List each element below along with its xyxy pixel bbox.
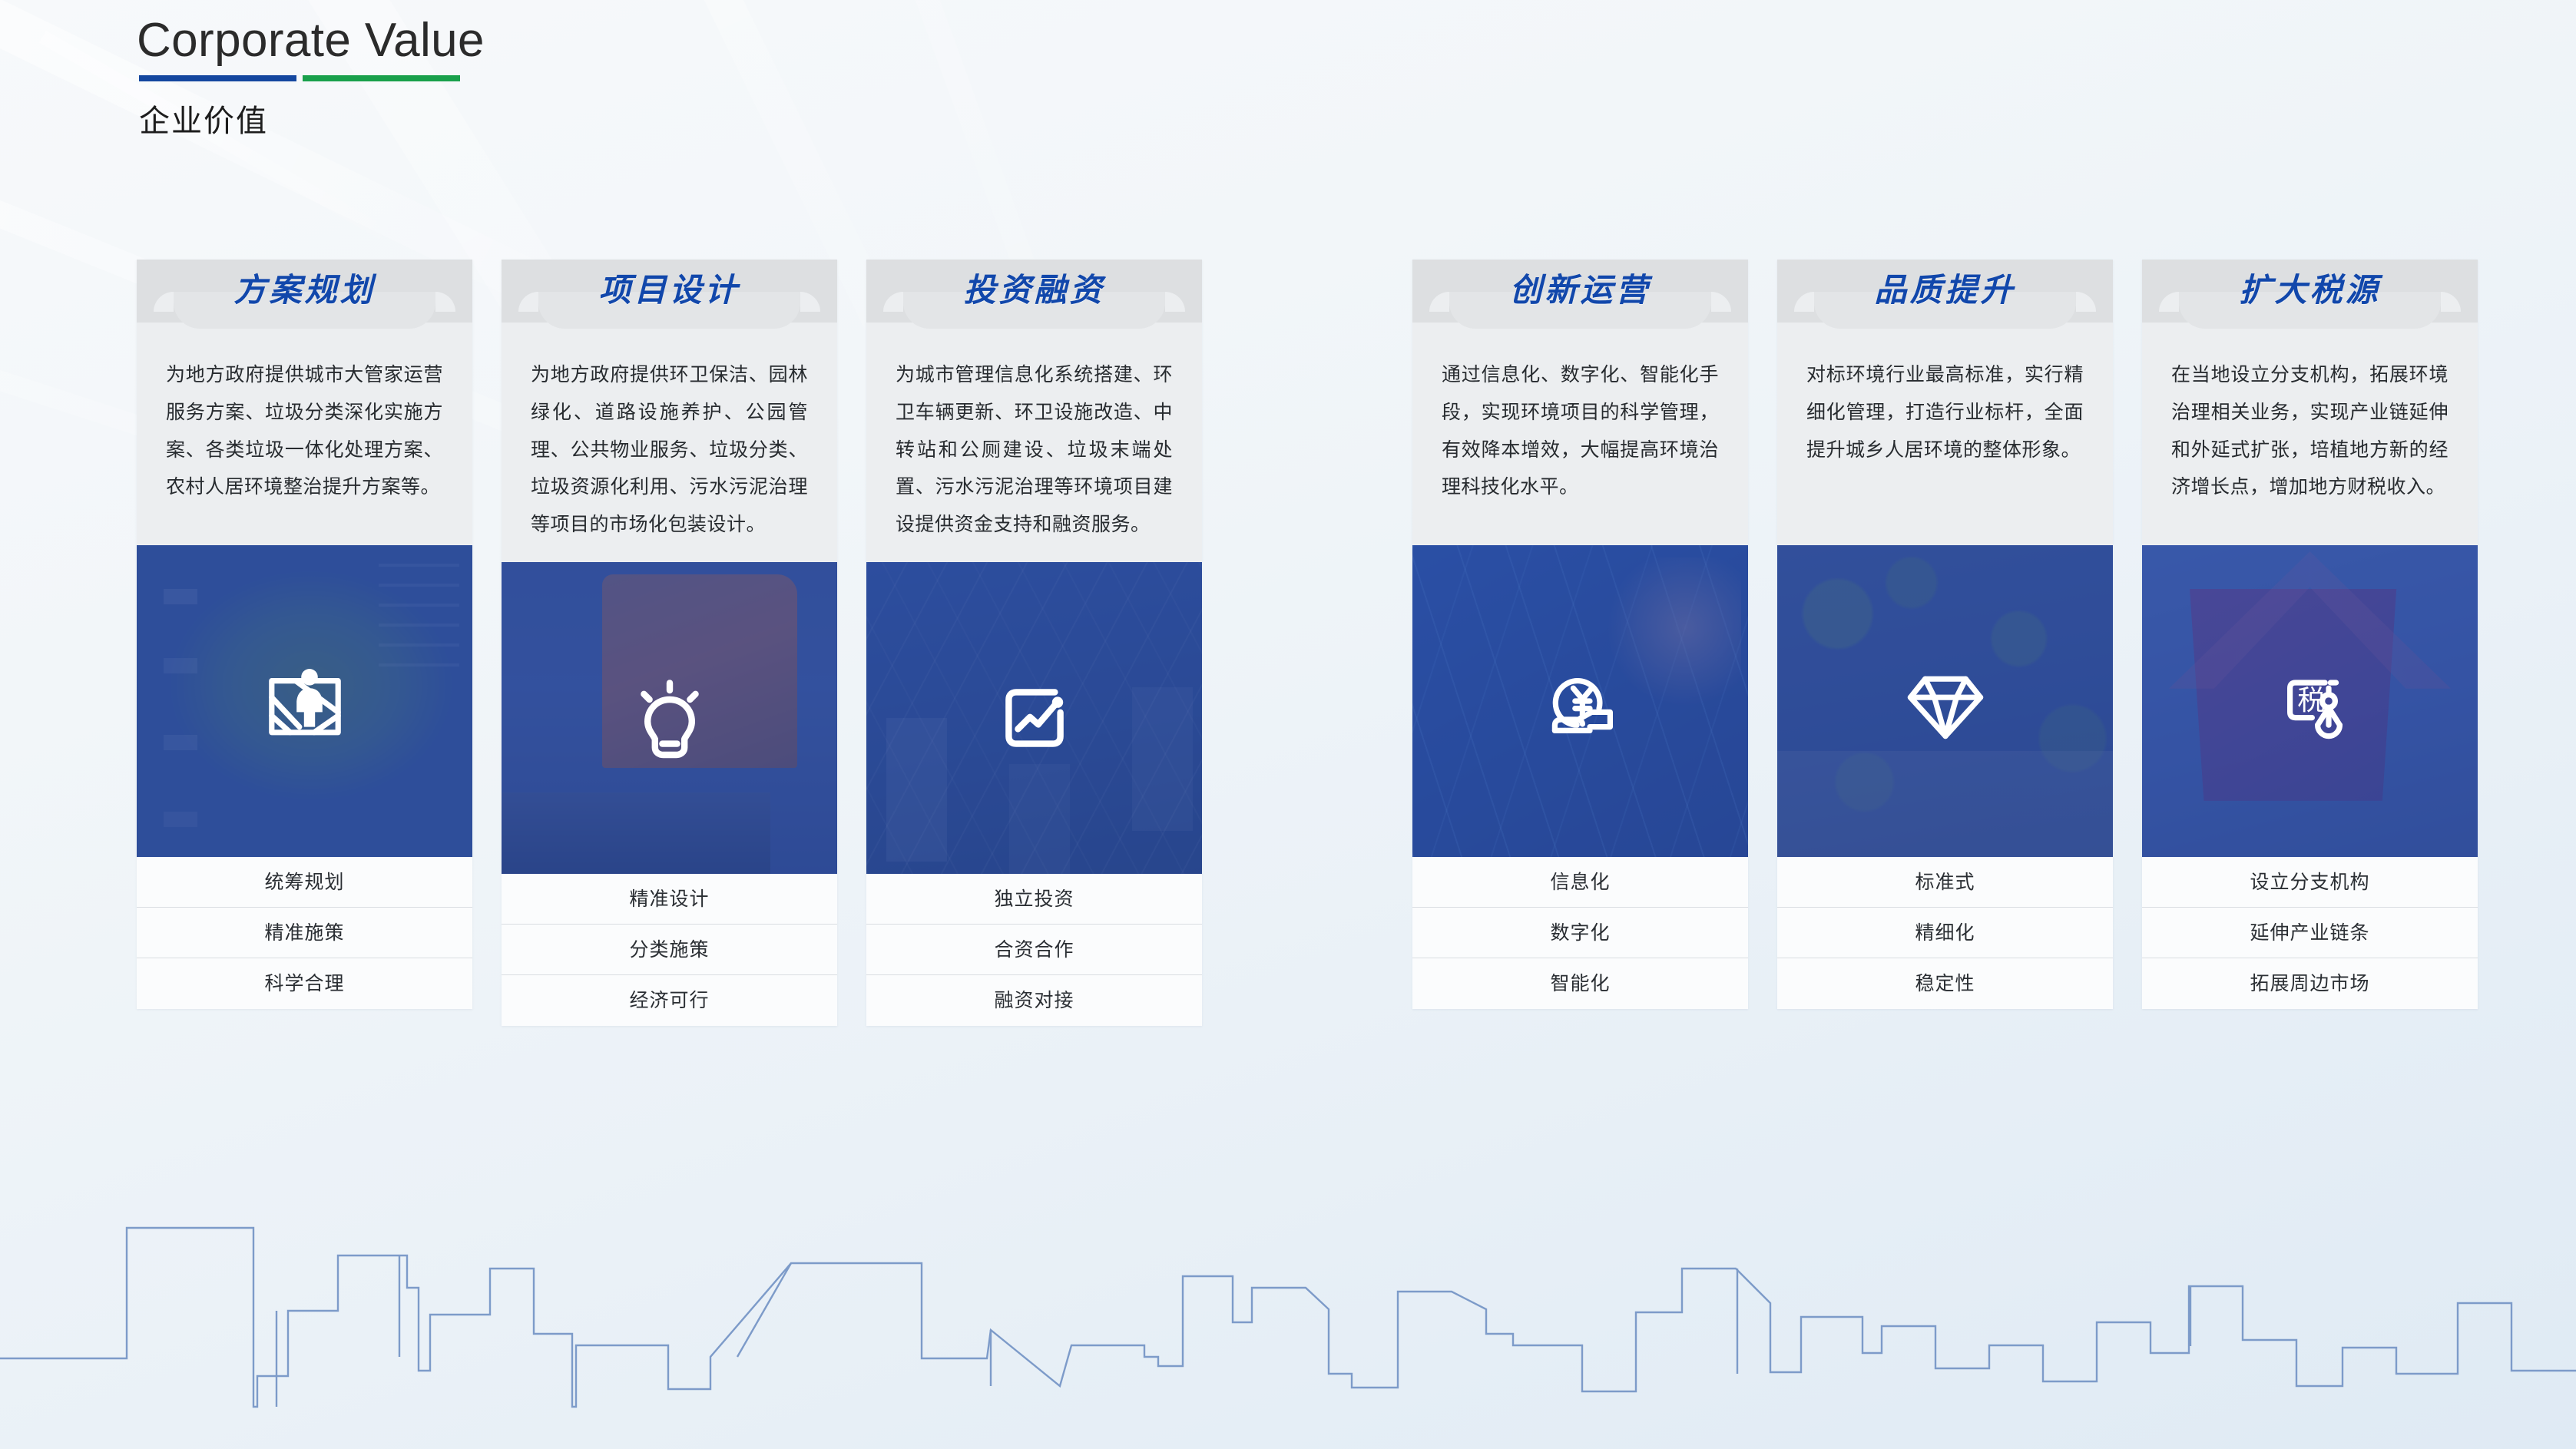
trend-chart-icon bbox=[866, 562, 1202, 874]
card-media bbox=[502, 562, 837, 874]
hand-holding-yuan-icon bbox=[1412, 545, 1748, 857]
card-header-banner: 创新运营 bbox=[1412, 260, 1748, 323]
page-title-english: Corporate Value bbox=[137, 15, 485, 65]
list-item: 稳定性 bbox=[1777, 958, 2113, 1009]
value-card[interactable]: 投资融资 为城市管理信息化系统搭建、环卫车辆更新、环卫设施改造、中转站和公厕建设… bbox=[866, 260, 1202, 1026]
card-description: 为城市管理信息化系统搭建、环卫车辆更新、环卫设施改造、中转站和公厕建设、垃圾末端… bbox=[866, 323, 1202, 562]
list-item: 精细化 bbox=[1777, 908, 2113, 958]
list-item: 分类施策 bbox=[502, 925, 837, 975]
list-item: 智能化 bbox=[1412, 958, 1748, 1009]
page-header: Corporate Value 企业价值 bbox=[137, 15, 485, 141]
list-item: 精准施策 bbox=[137, 908, 472, 958]
list-item: 合资合作 bbox=[866, 925, 1202, 975]
card-keyword-list: 精准设计 分类施策 经济可行 bbox=[502, 874, 837, 1026]
value-card-grid: 方案规划 为地方政府提供城市大管家运营服务方案、垃圾分类深化实施方案、各类垃圾一… bbox=[137, 260, 2441, 1026]
value-card[interactable]: 创新运营 通过信息化、数字化、智能化手段，实现环境项目的科学管理，有效降本增效，… bbox=[1412, 260, 1748, 1009]
card-media bbox=[137, 545, 472, 857]
list-item: 数字化 bbox=[1412, 908, 1748, 958]
list-item: 科学合理 bbox=[137, 958, 472, 1009]
tax-scale-icon: 税 bbox=[2142, 545, 2478, 857]
list-item: 拓展周边市场 bbox=[2142, 958, 2478, 1009]
list-item: 延伸产业链条 bbox=[2142, 908, 2478, 958]
card-media bbox=[1777, 545, 2113, 857]
card-keyword-list: 标准式 精细化 稳定性 bbox=[1777, 857, 2113, 1009]
list-item: 统筹规划 bbox=[137, 857, 472, 908]
list-item: 精准设计 bbox=[502, 874, 837, 925]
value-card[interactable]: 扩大税源 在当地设立分支机构，拓展环境治理相关业务，实现产业链延伸和外延式扩张，… bbox=[2142, 260, 2478, 1009]
list-item: 标准式 bbox=[1777, 857, 2113, 908]
value-card[interactable]: 品质提升 对标环境行业最高标准，实行精细化管理，打造行业标杆，全面提升城乡人居环… bbox=[1777, 260, 2113, 1009]
list-item: 设立分支机构 bbox=[2142, 857, 2478, 908]
card-media: 税 bbox=[2142, 545, 2478, 857]
card-title: 项目设计 bbox=[502, 264, 837, 311]
card-header-banner: 方案规划 bbox=[137, 260, 472, 323]
city-skyline-decoration bbox=[0, 1196, 2576, 1449]
list-item: 信息化 bbox=[1412, 857, 1748, 908]
card-description: 通过信息化、数字化、智能化手段，实现环境项目的科学管理，有效降本增效，大幅提高环… bbox=[1412, 323, 1748, 545]
card-keyword-list: 独立投资 合资合作 融资对接 bbox=[866, 874, 1202, 1026]
title-underline-blue bbox=[139, 75, 296, 81]
diamond-icon bbox=[1777, 545, 2113, 857]
card-header-banner: 品质提升 bbox=[1777, 260, 2113, 323]
value-card[interactable]: 项目设计 为地方政府提供环卫保洁、园林绿化、道路设施养护、公园管理、公共物业服务… bbox=[502, 260, 837, 1026]
card-keyword-list: 统筹规划 精准施策 科学合理 bbox=[137, 857, 472, 1009]
list-item: 融资对接 bbox=[866, 975, 1202, 1026]
title-underline bbox=[139, 75, 485, 81]
card-title: 方案规划 bbox=[137, 264, 472, 311]
list-item: 经济可行 bbox=[502, 975, 837, 1026]
card-title: 创新运营 bbox=[1412, 264, 1748, 311]
card-media bbox=[1412, 545, 1748, 857]
card-media bbox=[866, 562, 1202, 874]
card-title: 品质提升 bbox=[1777, 264, 2113, 311]
card-description: 为地方政府提供环卫保洁、园林绿化、道路设施养护、公园管理、公共物业服务、垃圾分类… bbox=[502, 323, 837, 562]
value-card[interactable]: 方案规划 为地方政府提供城市大管家运营服务方案、垃圾分类深化实施方案、各类垃圾一… bbox=[137, 260, 472, 1009]
card-title: 扩大税源 bbox=[2142, 264, 2478, 311]
card-title: 投资融资 bbox=[866, 264, 1202, 311]
list-item: 独立投资 bbox=[866, 874, 1202, 925]
card-description: 为地方政府提供城市大管家运营服务方案、垃圾分类深化实施方案、各类垃圾一体化处理方… bbox=[137, 323, 472, 545]
map-location-icon bbox=[137, 545, 472, 857]
lightbulb-icon bbox=[502, 562, 837, 874]
card-description: 对标环境行业最高标准，实行精细化管理，打造行业标杆，全面提升城乡人居环境的整体形… bbox=[1777, 323, 2113, 545]
card-keyword-list: 信息化 数字化 智能化 bbox=[1412, 857, 1748, 1009]
card-header-banner: 投资融资 bbox=[866, 260, 1202, 323]
card-header-banner: 扩大税源 bbox=[2142, 260, 2478, 323]
card-header-banner: 项目设计 bbox=[502, 260, 837, 323]
card-description: 在当地设立分支机构，拓展环境治理相关业务，实现产业链延伸和外延式扩张，培植地方新… bbox=[2142, 323, 2478, 545]
title-underline-green bbox=[303, 75, 460, 81]
card-keyword-list: 设立分支机构 延伸产业链条 拓展周边市场 bbox=[2142, 857, 2478, 1009]
page-title-chinese: 企业价值 bbox=[139, 96, 485, 141]
